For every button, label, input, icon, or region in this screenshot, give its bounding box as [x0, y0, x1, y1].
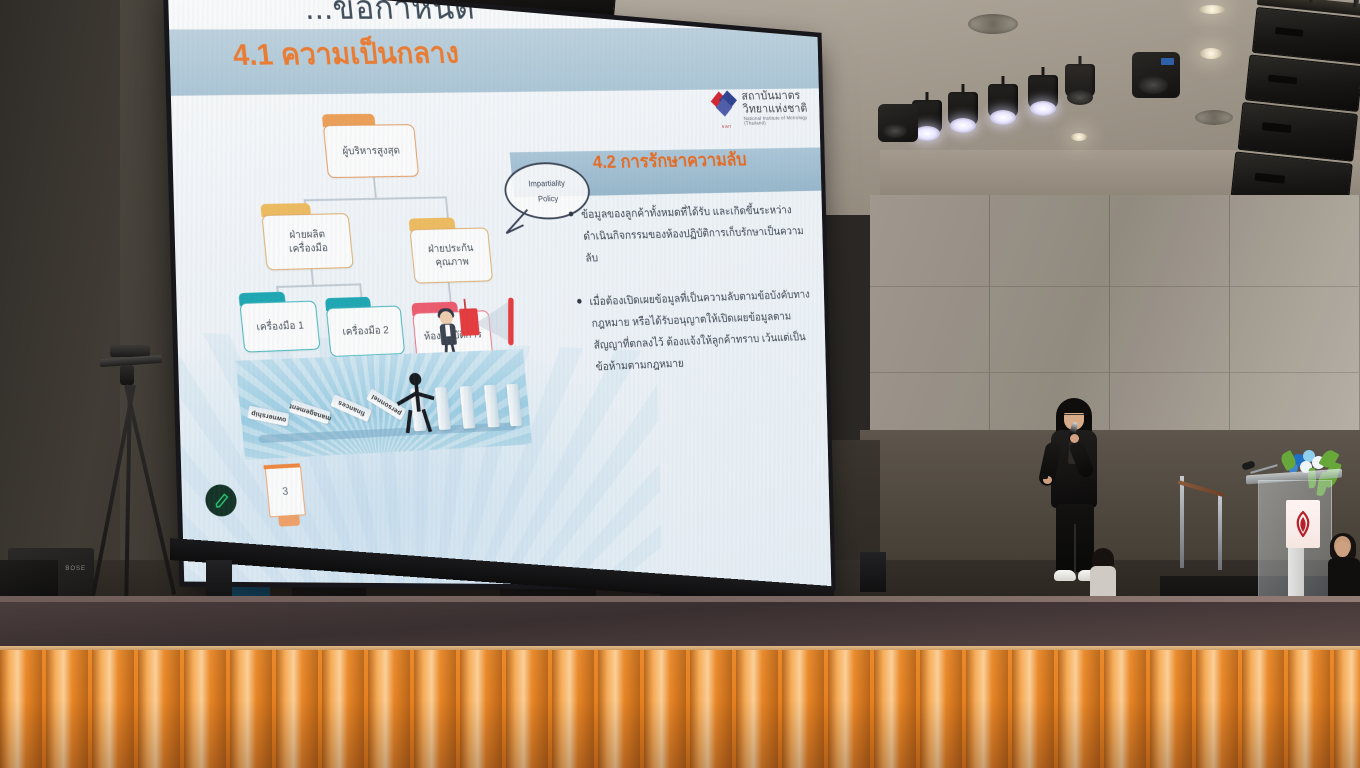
org-connector — [276, 283, 361, 288]
slide-heading-4-1: 4.1 ความเป็นกลาง — [230, 29, 654, 79]
presenter-hand — [1070, 434, 1079, 443]
line-array-speaker — [1227, 0, 1360, 228]
megaphone-rim-icon — [508, 297, 513, 345]
slide-bullet-list: ข้อมูลของลูกค้าทั้งหมดที่ได้รับ และเกิดข… — [568, 199, 821, 400]
presenter-shoe — [1054, 570, 1076, 581]
ac-vent-icon — [968, 14, 1018, 34]
par-can-light-icon — [1028, 75, 1058, 109]
bullet-dot-icon — [577, 298, 582, 303]
org-node-production: ฝ่ายผลิต เครื่องมือ — [261, 213, 353, 270]
trouser-seam — [1074, 524, 1076, 572]
org-node-instrument-2: เครื่องมือ 2 — [326, 305, 405, 357]
seated-audience-member — [1090, 548, 1118, 598]
bullet-dot-icon — [569, 212, 574, 217]
par-can-light-icon — [988, 84, 1018, 118]
org-node-label: ฝ่ายผลิต — [289, 227, 326, 242]
moving-head-light-icon — [878, 104, 918, 142]
speaker-brand-label: BOSE — [65, 566, 86, 572]
megaphone-cone-icon — [473, 301, 513, 345]
nimt-thai-name: สถาบันมาตรวิทยาแห่งชาติ — [741, 90, 826, 115]
org-node-label: ฝ่ายประกัน — [428, 241, 475, 256]
speech-bubble-tail-icon — [500, 208, 533, 237]
org-node-label: เครื่องมือ — [289, 241, 329, 256]
bubble-line-2: Policy — [537, 191, 559, 207]
slide-heading-4-2: 4.2 การรักษาความลับ — [591, 146, 747, 177]
org-node-label: ผู้บริหารสูงสุด — [342, 144, 401, 159]
stage-skirt — [0, 650, 1360, 768]
org-node-label: เครื่องมือ 1 — [256, 319, 305, 335]
lectern-logo-plate — [1286, 500, 1320, 548]
nimt-english-name: National Institute of Metrology (Thailan… — [744, 116, 828, 127]
screen-leg — [860, 552, 886, 592]
nimt-logo: NIMT สถาบันมาตรวิทยาแห่งชาติ National In… — [710, 84, 828, 134]
bubble-line-1: Impartiality — [528, 175, 566, 191]
page-number-card: 3 — [265, 466, 306, 517]
camera-tripod — [96, 345, 166, 600]
nimt-abbrev: NIMT — [714, 124, 740, 129]
org-node-top-management: ผู้บริหารสูงสุด — [323, 124, 419, 178]
stick-figure-icon — [396, 372, 440, 434]
megaphone-handle-icon — [463, 299, 466, 311]
presentation-slide: ...ข้อกำหนด 4.1 ความเป็นกลาง 4.2 การรักษ… — [168, 0, 832, 586]
seated-audience-member — [1326, 536, 1360, 602]
conference-hall-scene: ...ข้อกำหนด 4.1 ความเป็นกลาง 4.2 การรักษ… — [0, 0, 1360, 768]
glasses-icon — [1064, 414, 1084, 418]
nimt-diamond-icon: NIMT — [711, 90, 740, 128]
bullet-item: เมื่อต้องเปิดเผยข้อมูลที่เป็นความลับตามข… — [576, 283, 819, 379]
org-node-quality-assurance: ฝ่ายประกัน คุณภาพ — [410, 227, 494, 283]
moving-head-light-icon — [1132, 52, 1180, 98]
org-node-label: คุณภาพ — [435, 255, 470, 270]
bullet-item: ข้อมูลของลูกค้าทั้งหมดที่ได้รับ และเกิดข… — [568, 199, 809, 270]
presentation-clicker-icon — [1040, 474, 1048, 479]
domino-illustration: ownership management finances personnel — [235, 349, 532, 460]
presenter-hair-front — [1059, 400, 1089, 413]
par-can-light-icon — [1065, 64, 1095, 98]
org-node-instrument-1: เครื่องมือ 1 — [239, 301, 320, 353]
org-connector — [311, 269, 314, 285]
page-number: 3 — [282, 486, 289, 498]
org-connector — [304, 196, 446, 201]
stage-edge — [0, 596, 1360, 602]
tripod-head — [120, 365, 134, 385]
lectern-logo-icon — [1293, 511, 1313, 537]
bullet-text: ข้อมูลของลูกค้าทั้งหมดที่ได้รับ และเกิดข… — [580, 199, 809, 270]
par-can-light-icon — [948, 92, 978, 126]
downlight-icon — [1199, 5, 1225, 14]
org-connector — [373, 177, 377, 198]
bullet-text: เมื่อต้องเปิดเผยข้อมูลที่เป็นความลับตามข… — [588, 283, 819, 378]
projection-screen: ...ข้อกำหนด 4.1 ความเป็นกลาง 4.2 การรักษ… — [168, 0, 832, 586]
org-node-label: เครื่องมือ 2 — [342, 323, 390, 339]
stage-railing — [1176, 466, 1228, 586]
